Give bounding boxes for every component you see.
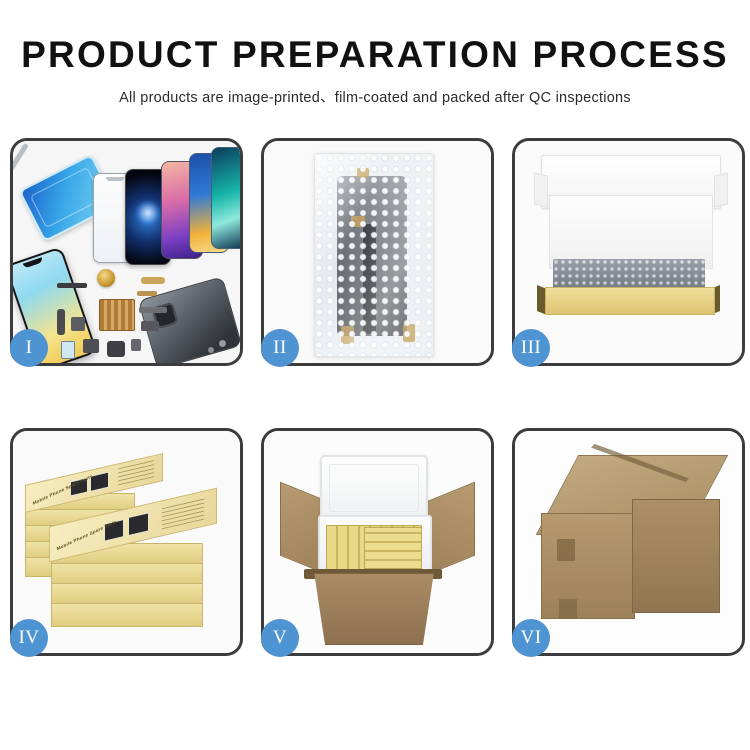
step-3-image (515, 141, 742, 363)
front-lid-text-lines (162, 498, 204, 530)
sim-tray-part (61, 341, 75, 359)
teal-gradient-phone (211, 147, 240, 249)
process-step-4: Mobile Phone Spare Parts Mobile Phone Sp… (10, 428, 243, 656)
process-step-3: III (512, 138, 745, 366)
step-badge-2: II (261, 329, 299, 367)
step-4-image: Mobile Phone Spare Parts Mobile Phone Sp… (13, 431, 240, 653)
stacked-box-f4 (51, 603, 203, 627)
coil-component (97, 269, 115, 287)
small-module-k (131, 339, 141, 351)
small-module-i (83, 339, 99, 353)
carton-right-face (632, 499, 720, 613)
phone-back-housing (138, 276, 240, 363)
rear-lid-swatch-2 (90, 472, 109, 492)
carton-tape-lower (559, 599, 577, 619)
sealed-carton (535, 451, 727, 631)
plastic-sheen (315, 154, 433, 356)
carton-tape-upper (557, 539, 575, 561)
step-badge-6: VI (512, 619, 550, 657)
step-5-image (264, 431, 491, 653)
stacked-box-f2 (51, 563, 203, 585)
bubble-wrap-bag (314, 153, 434, 357)
stacked-box-f3 (51, 583, 203, 605)
front-lid-swatch-2 (128, 512, 149, 536)
small-module-g (141, 321, 159, 331)
white-box-back-panel (549, 195, 713, 269)
process-step-6: VI (512, 428, 745, 656)
flex-cable-f (139, 307, 167, 313)
screw-a (219, 340, 226, 347)
yellow-box-front (545, 287, 715, 315)
screwdriver-tool (13, 143, 29, 181)
flex-cable-d (57, 309, 65, 335)
step-badge-4: IV (10, 619, 48, 657)
rear-lid-text-lines (118, 460, 154, 485)
carton-body (306, 573, 442, 645)
flex-cable-c (137, 291, 157, 296)
carton-left-face (541, 513, 635, 619)
step-badge-3: III (512, 329, 550, 367)
camera-module (107, 341, 125, 357)
yellow-boxes-inside-2 (364, 527, 422, 569)
box-stack: Mobile Phone Spare Parts Mobile Phone Sp… (21, 447, 233, 643)
step-6-image (515, 431, 742, 653)
step-1-image (13, 141, 240, 363)
chip-grid-component (99, 299, 135, 331)
flex-cable-b (141, 277, 165, 284)
step-badge-5: V (261, 619, 299, 657)
page-title: PRODUCT PREPARATION PROCESS (0, 36, 750, 75)
process-step-1: I (10, 138, 243, 366)
process-step-2: II (261, 138, 494, 366)
screw-b (208, 347, 214, 353)
foam-box-lid (320, 455, 428, 521)
small-module-e (71, 317, 85, 331)
page-subtitle: All products are image-printed、film-coat… (0, 86, 750, 107)
flex-cable-a (57, 283, 87, 288)
process-step-5: V (261, 428, 494, 656)
header: PRODUCT PREPARATION PROCESS All products… (0, 0, 750, 107)
process-steps-grid: I II (10, 138, 740, 656)
step-2-image (264, 141, 491, 363)
product-preparation-infographic: PRODUCT PREPARATION PROCESS All products… (0, 0, 750, 750)
step-badge-1: I (10, 329, 48, 367)
